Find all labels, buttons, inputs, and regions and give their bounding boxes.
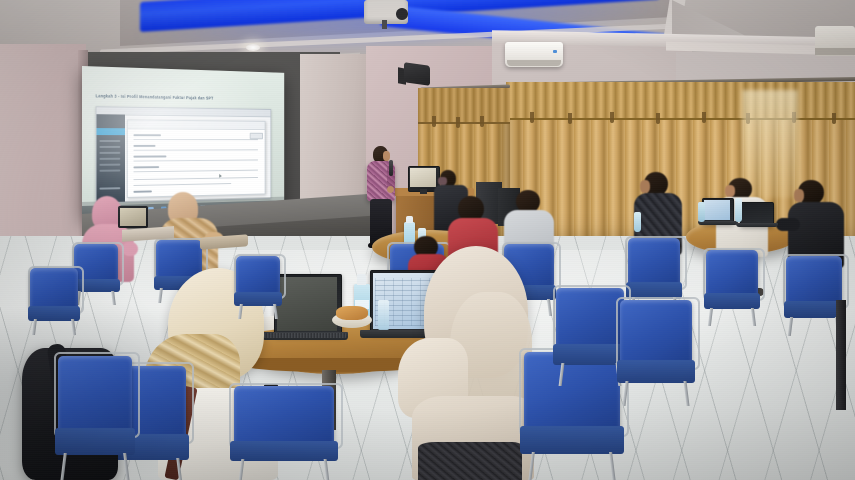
projector-mount [382,20,387,29]
air-conditioner-far-vent [815,48,855,55]
projector-lens-icon [396,8,408,20]
microphone-icon [389,160,393,176]
laptop-right-2-base [736,223,778,227]
laptop-right-display [704,200,730,220]
wall-speaker-icon [404,62,430,86]
curtain-valance-right [506,82,855,120]
chair-mid-left-2[interactable] [30,268,78,334]
water-bottle-foreground [378,300,389,330]
face-mask-icon [438,177,447,185]
snack-items [336,306,368,320]
sanitizer-center-pump [406,216,413,223]
attendee-right-2-face [725,185,735,197]
laptop-right-base [698,221,738,225]
attendee-right-3-arm [776,218,800,231]
chair-right-2[interactable] [706,250,758,324]
equipment-stand [836,300,846,410]
water-bottle-right-3 [634,212,641,232]
chair-mid-right-1[interactable] [556,288,624,384]
chair-mid-right-2[interactable] [620,300,692,404]
attendee-right-3-face [794,189,804,202]
chair-far-left-front[interactable] [58,356,132,480]
air-conditioner-vent [507,60,561,66]
chair-front-center-2[interactable] [234,386,334,480]
curtain-valance-left [418,88,510,124]
laptop-left-small-display [120,208,146,226]
sanitizer-foreground-pump [357,274,366,285]
air-conditioner-led-icon [553,50,557,53]
water-bottle-right [698,202,705,222]
presenter-hand [387,186,394,193]
attendee-arm [122,242,138,256]
chair-right-3[interactable] [786,256,842,334]
monitor-stand [420,189,427,194]
monitor-display [410,168,436,187]
meeting-room-photo: Langkah 3 - Isi Profil Menandatangani Fa… [0,0,855,480]
downlight-icon [246,44,260,51]
attendee-right-1-face [640,180,650,193]
attendee-front-center-skirt [418,442,522,480]
chair-mid-left[interactable] [236,256,280,318]
water-bottle-right-2 [735,198,742,222]
